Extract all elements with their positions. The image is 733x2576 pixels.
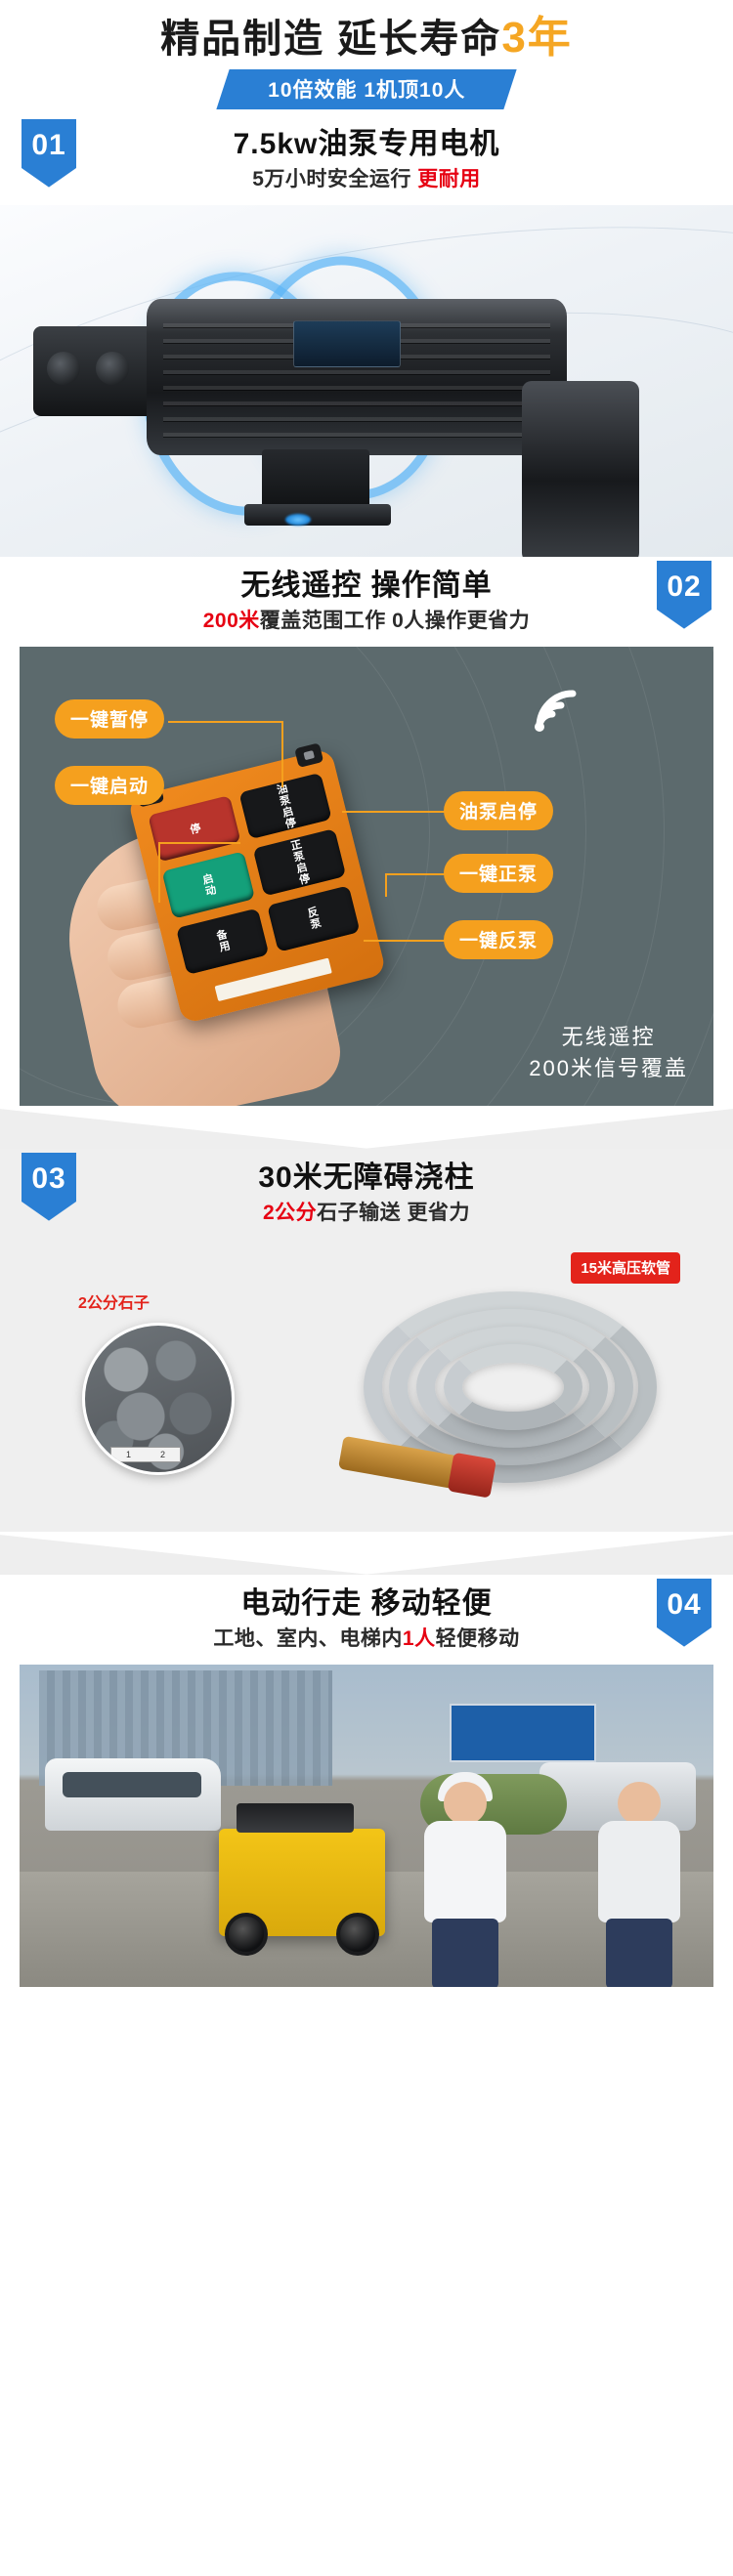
hydraulic-pump-part <box>33 326 162 416</box>
callout-forward-pump: 一键正泵 <box>444 854 553 893</box>
section-04-text: 电动行走 移动轻便 工地、室内、电梯内1人轻便移动 <box>213 1586 519 1651</box>
motor-product-image <box>0 205 733 557</box>
page-title: 精品制造 延长寿命3年 <box>0 14 733 63</box>
header-ribbon: 10倍效能 1机顶10人 <box>216 69 517 109</box>
section-04-subtitle-normal-a: 工地、室内、电梯内 <box>213 1627 403 1650</box>
section-badge-01-label: 01 <box>31 129 65 162</box>
leader-line-start <box>158 842 240 844</box>
concrete-pump-machine <box>219 1829 385 1936</box>
leader-line-forward-up <box>385 873 387 897</box>
section-02-title: 无线遥控 操作简单 <box>203 569 531 605</box>
remote-key-pump-toggle[interactable]: 油泵启停 <box>238 772 331 839</box>
remote-caption-line2: 200米信号覆盖 <box>529 1053 688 1084</box>
section-01-subtitle-normal: 5万小时安全运行 <box>252 168 417 190</box>
motor-indicator-light <box>285 514 311 526</box>
remote-key-reverse-pump[interactable]: 反泵 <box>267 885 360 952</box>
remote-key-spare[interactable]: 备用 <box>176 908 269 975</box>
section-03-subtitle: 2公分石子输送 更省力 <box>258 1201 474 1226</box>
section-badge-04: 04 <box>657 1579 711 1647</box>
section-03-subtitle-normal: 石子输送 更省力 <box>317 1202 470 1224</box>
section-01-subtitle-highlight: 更耐用 <box>417 168 481 190</box>
section-03-subtitle-highlight: 2公分 <box>263 1202 317 1224</box>
worker-head-2 <box>618 1782 661 1825</box>
motor-terminal-box <box>262 449 369 510</box>
construction-site-image <box>20 1665 713 1987</box>
worker-legs <box>432 1919 498 1987</box>
page-title-accent: 3年 <box>501 14 572 62</box>
leader-line-reverse <box>364 940 448 942</box>
remote-keypad: 停 油泵启停 启动 正泵启停 备用 反泵 <box>148 772 360 974</box>
page-title-main: 精品制造 延长寿命 <box>160 18 501 61</box>
motor-end-cap <box>522 381 639 557</box>
section-04-title: 电动行走 移动轻便 <box>213 1586 519 1623</box>
leader-line-start-up <box>158 842 160 903</box>
scale-mark-1: 1 <box>126 1450 131 1459</box>
section-02-subtitle: 200米覆盖范围工作 0人操作更省力 <box>203 609 531 634</box>
leader-line-pause <box>168 721 283 723</box>
section-04-subtitle-normal-b: 轻便移动 <box>436 1627 520 1650</box>
motor-base-mount <box>244 504 391 526</box>
header-ribbon-wrap: 10倍效能 1机顶10人 <box>0 69 733 109</box>
callout-reverse-pump: 一键反泵 <box>444 920 553 959</box>
product-detail-page: 精品制造 延长寿命3年 10倍效能 1机顶10人 01 7.5kw油泵专用电机 … <box>0 0 733 1987</box>
section-04-subtitle: 工地、室内、电梯内1人轻便移动 <box>213 1626 519 1652</box>
scale-mark-2: 2 <box>160 1450 165 1459</box>
gravel-photo: 1 2 <box>82 1323 235 1475</box>
section-divider-arrow <box>0 1106 733 1149</box>
callout-pump-toggle: 油泵启停 <box>444 791 553 830</box>
callout-start: 一键启动 <box>55 766 164 805</box>
remote-key-forward-pump[interactable]: 正泵启停 <box>253 828 346 896</box>
machine-hopper <box>237 1803 354 1833</box>
worker-bystander <box>588 1782 690 1987</box>
section-divider-arrow-2 <box>0 1532 733 1575</box>
section-03-title: 30米无障碍浇柱 <box>258 1161 474 1197</box>
section-badge-01: 01 <box>22 119 76 188</box>
section-badge-03-label: 03 <box>31 1162 65 1196</box>
section-03-text: 30米无障碍浇柱 2公分石子输送 更省力 <box>258 1161 474 1225</box>
page-header: 精品制造 延长寿命3年 10倍效能 1机顶10人 <box>0 0 733 115</box>
header-ribbon-label: 10倍效能 1机顶10人 <box>268 74 465 104</box>
worker-operator <box>414 1782 516 1987</box>
section-badge-04-label: 04 <box>667 1588 701 1622</box>
hose-length-tag: 15米高压软管 <box>571 1252 680 1284</box>
hose-gravel-image: 2公分石子 1 2 15米高压软管 <box>0 1239 733 1532</box>
gravel-scale-ruler: 1 2 <box>110 1447 181 1462</box>
section-02-text: 无线遥控 操作简单 200米覆盖范围工作 0人操作更省力 <box>203 569 531 633</box>
worker-legs-2 <box>606 1919 672 1987</box>
high-pressure-hose-coil: 15米高压软管 <box>317 1256 698 1500</box>
worker-head <box>444 1782 487 1825</box>
callout-pause: 一键暂停 <box>55 699 164 739</box>
section-badge-02: 02 <box>657 561 711 629</box>
section-02-subtitle-highlight: 200米 <box>203 610 260 632</box>
section-heading-02: 02 无线遥控 操作简单 200米覆盖范围工作 0人操作更省力 <box>0 557 733 647</box>
section-01-title: 7.5kw油泵专用电机 <box>234 127 500 163</box>
section-02-subtitle-normal: 覆盖范围工作 0人操作更省力 <box>260 610 531 632</box>
remote-caption-line1: 无线遥控 <box>529 1022 688 1053</box>
worker-torso <box>424 1821 506 1922</box>
section-01-text: 7.5kw油泵专用电机 5万小时安全运行 更耐用 <box>234 127 500 191</box>
gravel-label: 2公分石子 <box>78 1289 150 1313</box>
white-van <box>45 1758 221 1831</box>
machine-wheel-right <box>336 1913 379 1956</box>
section-heading-04: 04 电动行走 移动轻便 工地、室内、电梯内1人轻便移动 <box>0 1575 733 1665</box>
remote-caption: 无线遥控 200米信号覆盖 <box>529 1022 688 1084</box>
section-04-subtitle-highlight: 1人 <box>403 1627 436 1650</box>
machine-wheel-left <box>225 1913 268 1956</box>
leader-line-forward <box>385 873 448 875</box>
section-heading-03: 03 30米无障碍浇柱 2公分石子输送 更省力 <box>0 1149 733 1239</box>
leader-line-pause-down <box>281 721 283 787</box>
leader-line-pump-toggle <box>342 811 448 813</box>
remote-key-stop[interactable]: 停 <box>148 795 240 863</box>
remote-key-start[interactable]: 启动 <box>162 851 255 918</box>
motor-nameplate <box>293 320 401 367</box>
section-badge-02-label: 02 <box>667 570 701 604</box>
worker-torso-2 <box>598 1821 680 1922</box>
site-signboard <box>450 1704 596 1762</box>
section-heading-01: 01 7.5kw油泵专用电机 5万小时安全运行 更耐用 <box>0 115 733 205</box>
wifi-signal-icon <box>530 684 584 733</box>
section-badge-03: 03 <box>22 1153 76 1221</box>
section-01-subtitle: 5万小时安全运行 更耐用 <box>234 167 500 192</box>
remote-control-image: 停 油泵启停 启动 正泵启停 备用 反泵 一键暂停 一键启动 油泵启停 一键正泵… <box>20 647 713 1106</box>
